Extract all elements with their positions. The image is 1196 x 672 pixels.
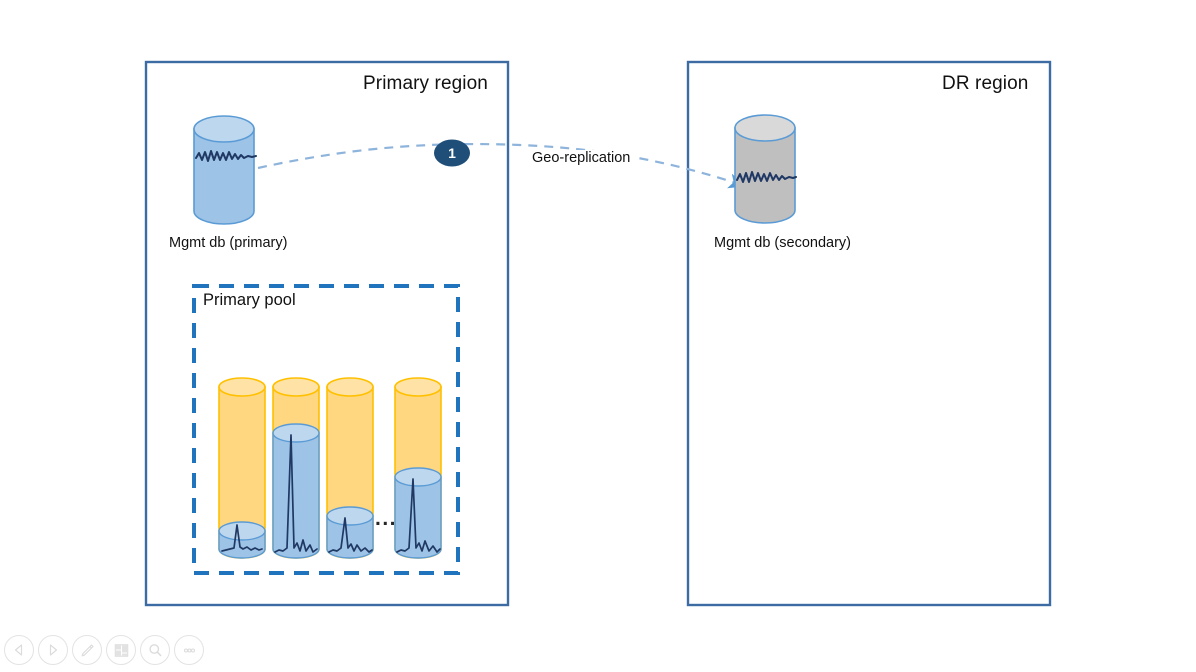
triangle-left-icon <box>11 642 27 658</box>
primary-region-title: Primary region <box>363 73 488 95</box>
primary-pool-label: Primary pool <box>201 291 298 310</box>
pages-button[interactable] <box>106 635 136 665</box>
pages-icon <box>113 642 130 659</box>
mgmt-db-secondary-label: Mgmt db (secondary) <box>714 235 851 251</box>
mgmt-db-secondary-cylinder <box>735 115 796 223</box>
diagram-svg <box>0 0 1196 672</box>
pencil-icon <box>79 642 96 659</box>
pool-db-4 <box>395 378 441 558</box>
mgmt-db-primary-cylinder <box>194 116 256 224</box>
pool-db-1 <box>219 378 265 558</box>
diagram-canvas: Primary region DR region Mgmt db (primar… <box>0 0 1196 672</box>
pool-db-2 <box>273 378 319 558</box>
ellipsis-icon <box>181 642 198 659</box>
pool-ellipsis: ... <box>375 507 397 531</box>
more-button[interactable] <box>174 635 204 665</box>
step-badge-1 <box>434 140 470 167</box>
pool-db-3 <box>327 378 373 558</box>
search-icon <box>147 642 164 659</box>
dr-region-title: DR region <box>942 73 1028 95</box>
edit-button[interactable] <box>72 635 102 665</box>
previous-page-button[interactable] <box>4 635 34 665</box>
geo-replication-label: Geo-replication <box>529 150 633 166</box>
next-page-button[interactable] <box>38 635 68 665</box>
triangle-right-icon <box>45 642 61 658</box>
zoom-button[interactable] <box>140 635 170 665</box>
mgmt-db-primary-label: Mgmt db (primary) <box>169 235 287 251</box>
bottom-toolbar <box>4 632 204 668</box>
